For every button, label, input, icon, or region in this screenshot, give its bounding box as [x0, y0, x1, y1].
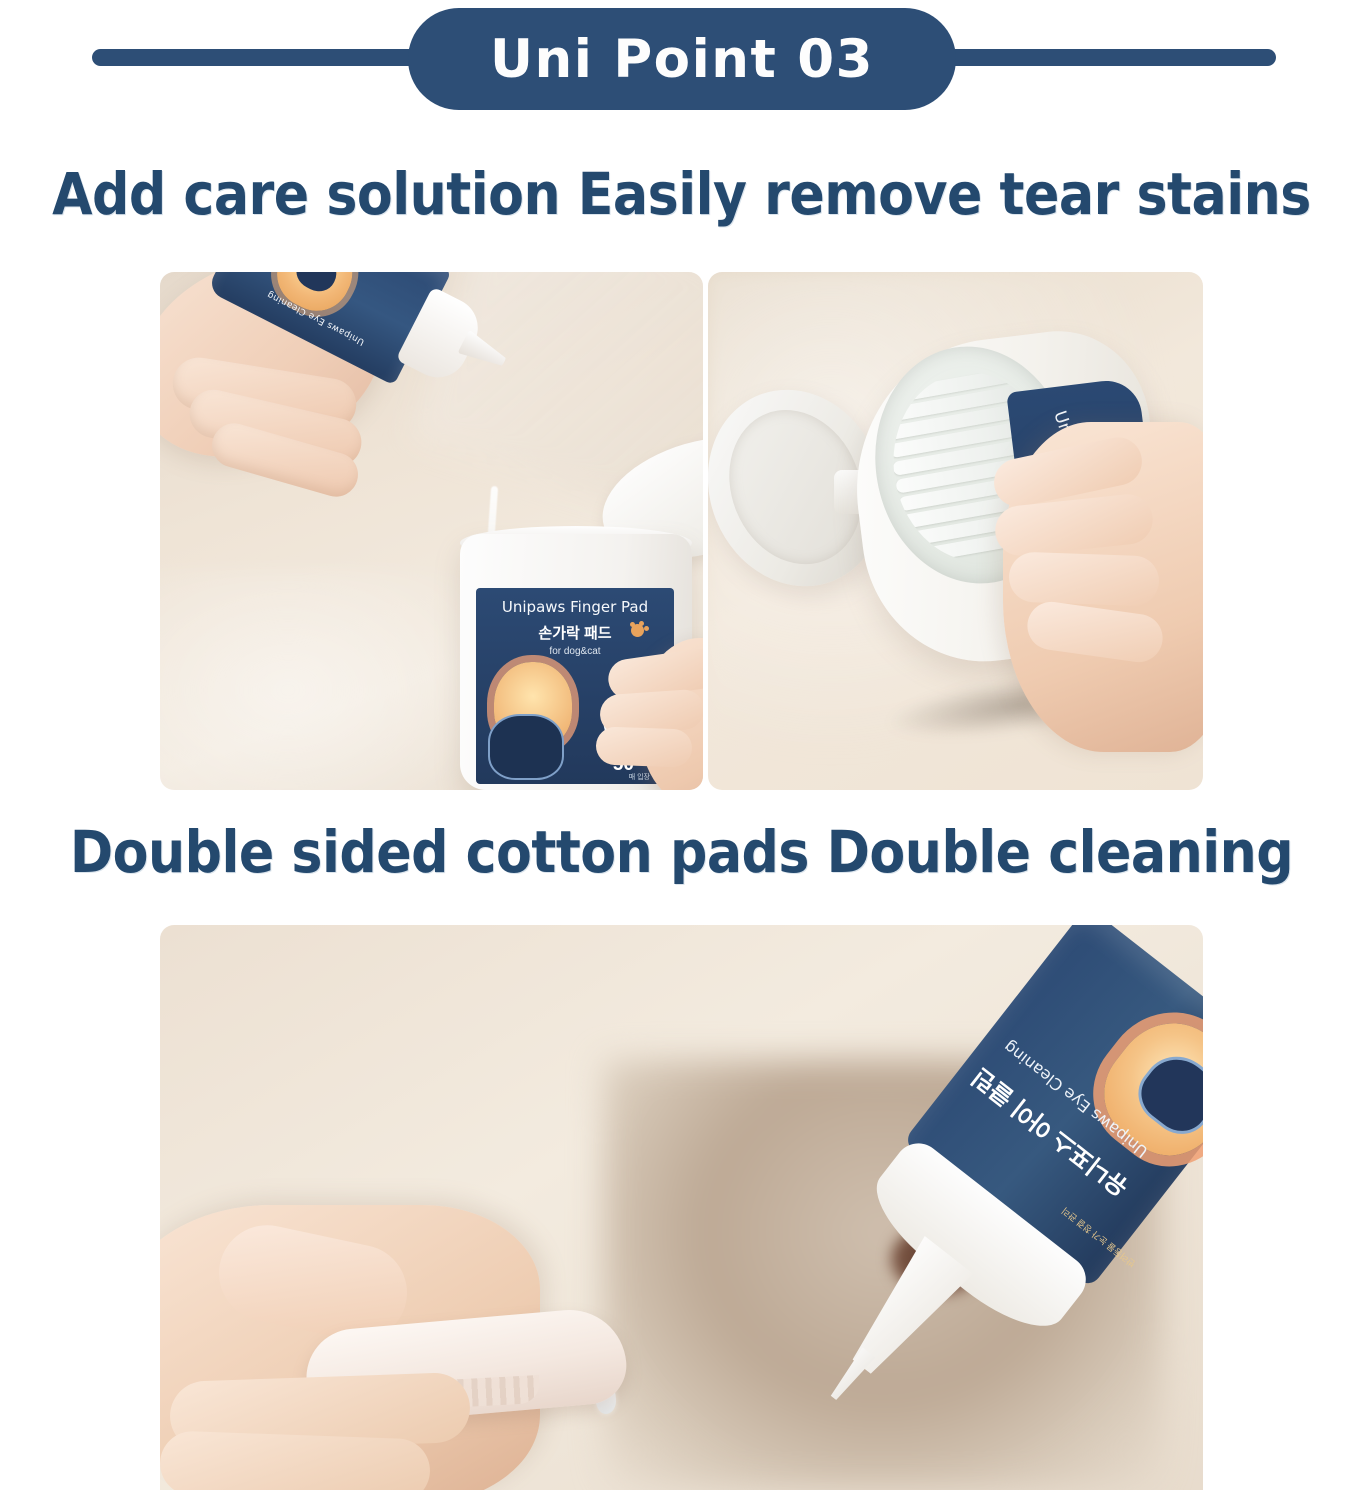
photo-open-jar-showing-cotton-pads: Unipaws Finger Pad: [708, 272, 1203, 790]
jar-brand-kr: 손가락 패드: [476, 622, 674, 643]
jar-audience-label: for dog&cat: [476, 646, 674, 657]
photo-row-top: 반려동물 눈가 청결 관리 Unipaws Eye Cleaning Unipa…: [160, 272, 1203, 790]
paw-print-icon: [631, 624, 644, 637]
finger: [1008, 551, 1160, 606]
finger: [595, 726, 692, 767]
photo-drip-solution-onto-cotton-pad: Unipaws Eye Cleaning 유니포스 아이 클린 반려동물 눈가 …: [160, 925, 1203, 1490]
caption-line-2: Double sided cotton pads Double cleaning: [0, 818, 1363, 886]
photo-row-bottom: Unipaws Eye Cleaning 유니포스 아이 클린 반려동물 눈가 …: [160, 925, 1203, 1490]
photo-pour-care-solution-into-jar: 반려동물 눈가 청결 관리 Unipaws Eye Cleaning Unipa…: [160, 272, 703, 790]
finger: [160, 1430, 431, 1490]
caption-line-1: Add care solution Easily remove tear sta…: [0, 160, 1363, 228]
cat-artwork-icon: [488, 714, 564, 780]
uni-point-badge: Uni Point 03: [408, 8, 956, 110]
jar-brand-en: Unipaws Finger Pad: [476, 598, 674, 616]
jar-count-unit: 매 입장: [629, 772, 650, 782]
uni-point-badge-label: Uni Point 03: [490, 29, 874, 90]
page-header: Uni Point 03: [0, 0, 1363, 128]
